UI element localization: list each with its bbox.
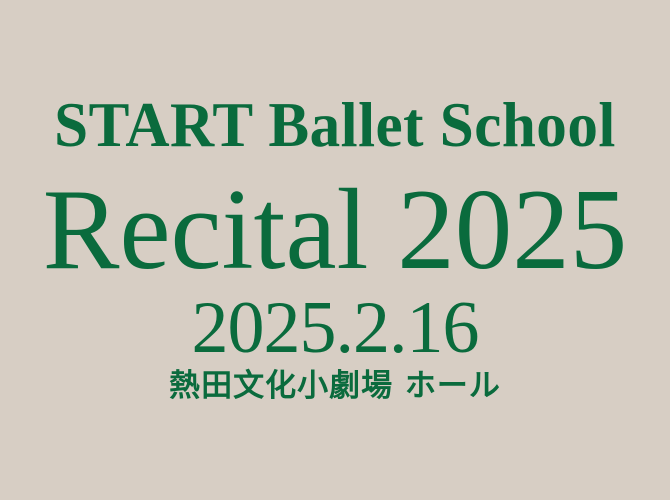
event-date-text: 2025.2.16 bbox=[0, 291, 670, 365]
venue-name-text: 熱田文化小劇場 ホール bbox=[0, 371, 670, 402]
recital-title-heading: Recital 2025 bbox=[0, 172, 670, 287]
recital-poster: START Ballet School Recital 2025 2025.2.… bbox=[0, 0, 670, 500]
school-name-heading: START Ballet School bbox=[10, 94, 660, 157]
